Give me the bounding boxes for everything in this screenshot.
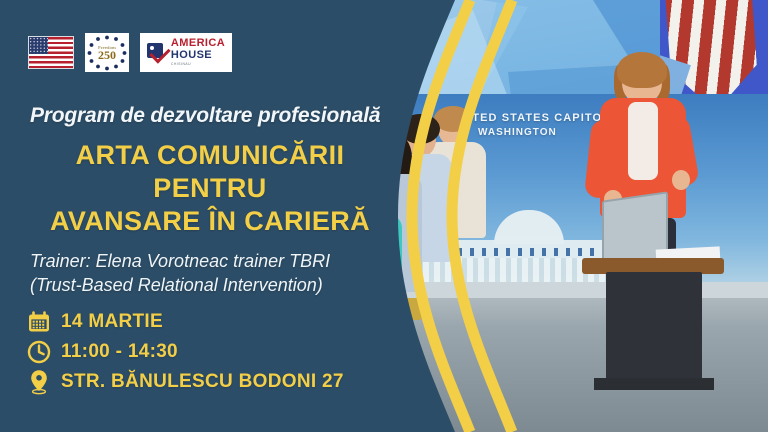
accent-curve-outer bbox=[452, 0, 512, 432]
america-label: AMERICA bbox=[171, 38, 225, 49]
house-label: HOUSE bbox=[171, 50, 225, 61]
event-details: 14 MARTIE 11:00 - 14:30 bbox=[26, 307, 344, 397]
freedom-250-text: Freedom 250 bbox=[85, 45, 129, 61]
america-house-check-icon bbox=[147, 43, 167, 63]
freedom-number: 250 bbox=[85, 50, 129, 61]
date-text: 14 MARTIE bbox=[61, 311, 163, 333]
flag-canton bbox=[29, 37, 48, 54]
map-pin-icon bbox=[26, 369, 52, 395]
logo-row: Freedom 250 AMERICA HOUSE CHISINAU bbox=[28, 33, 232, 72]
trainer-info: Trainer: Elena Vorotneac trainer TBRI (T… bbox=[30, 249, 430, 297]
detail-time: 11:00 - 14:30 bbox=[26, 337, 344, 367]
text-panel: Freedom 250 AMERICA HOUSE CHISINAU Progr… bbox=[0, 0, 430, 432]
headline-line-2: PENTRU bbox=[0, 172, 420, 205]
program-kicker: Program de dezvoltare profesională bbox=[30, 104, 420, 128]
flag-stars bbox=[29, 37, 48, 54]
america-house-wordmark: AMERICA HOUSE CHISINAU bbox=[171, 38, 225, 66]
america-house-logo: AMERICA HOUSE CHISINAU bbox=[140, 33, 232, 72]
detail-date: 14 MARTIE bbox=[26, 307, 344, 337]
us-flag-icon bbox=[28, 36, 74, 69]
freedom-250-logo: Freedom 250 bbox=[85, 33, 129, 72]
clock-icon bbox=[26, 339, 52, 365]
detail-location: STR. BĂNULESCU BODONI 27 bbox=[26, 367, 344, 397]
page-title: ARTA COMUNICĂRII PENTRU AVANSARE ÎN CARI… bbox=[0, 139, 420, 238]
headline-line-1: ARTA COMUNICĂRII bbox=[0, 139, 420, 172]
time-text: 11:00 - 14:30 bbox=[61, 341, 178, 363]
headline-line-3: AVANSARE ÎN CARIERĂ bbox=[0, 205, 420, 238]
city-label: CHISINAU bbox=[171, 63, 225, 66]
calendar-icon bbox=[26, 309, 52, 335]
trainer-line-2: (Trust-Based Relational Intervention) bbox=[30, 273, 430, 297]
event-poster: UNITED STATES CAPITOL WASHINGTON bbox=[0, 0, 768, 432]
location-text: STR. BĂNULESCU BODONI 27 bbox=[61, 371, 344, 393]
trainer-line-1: Trainer: Elena Vorotneac trainer TBRI bbox=[30, 249, 430, 273]
